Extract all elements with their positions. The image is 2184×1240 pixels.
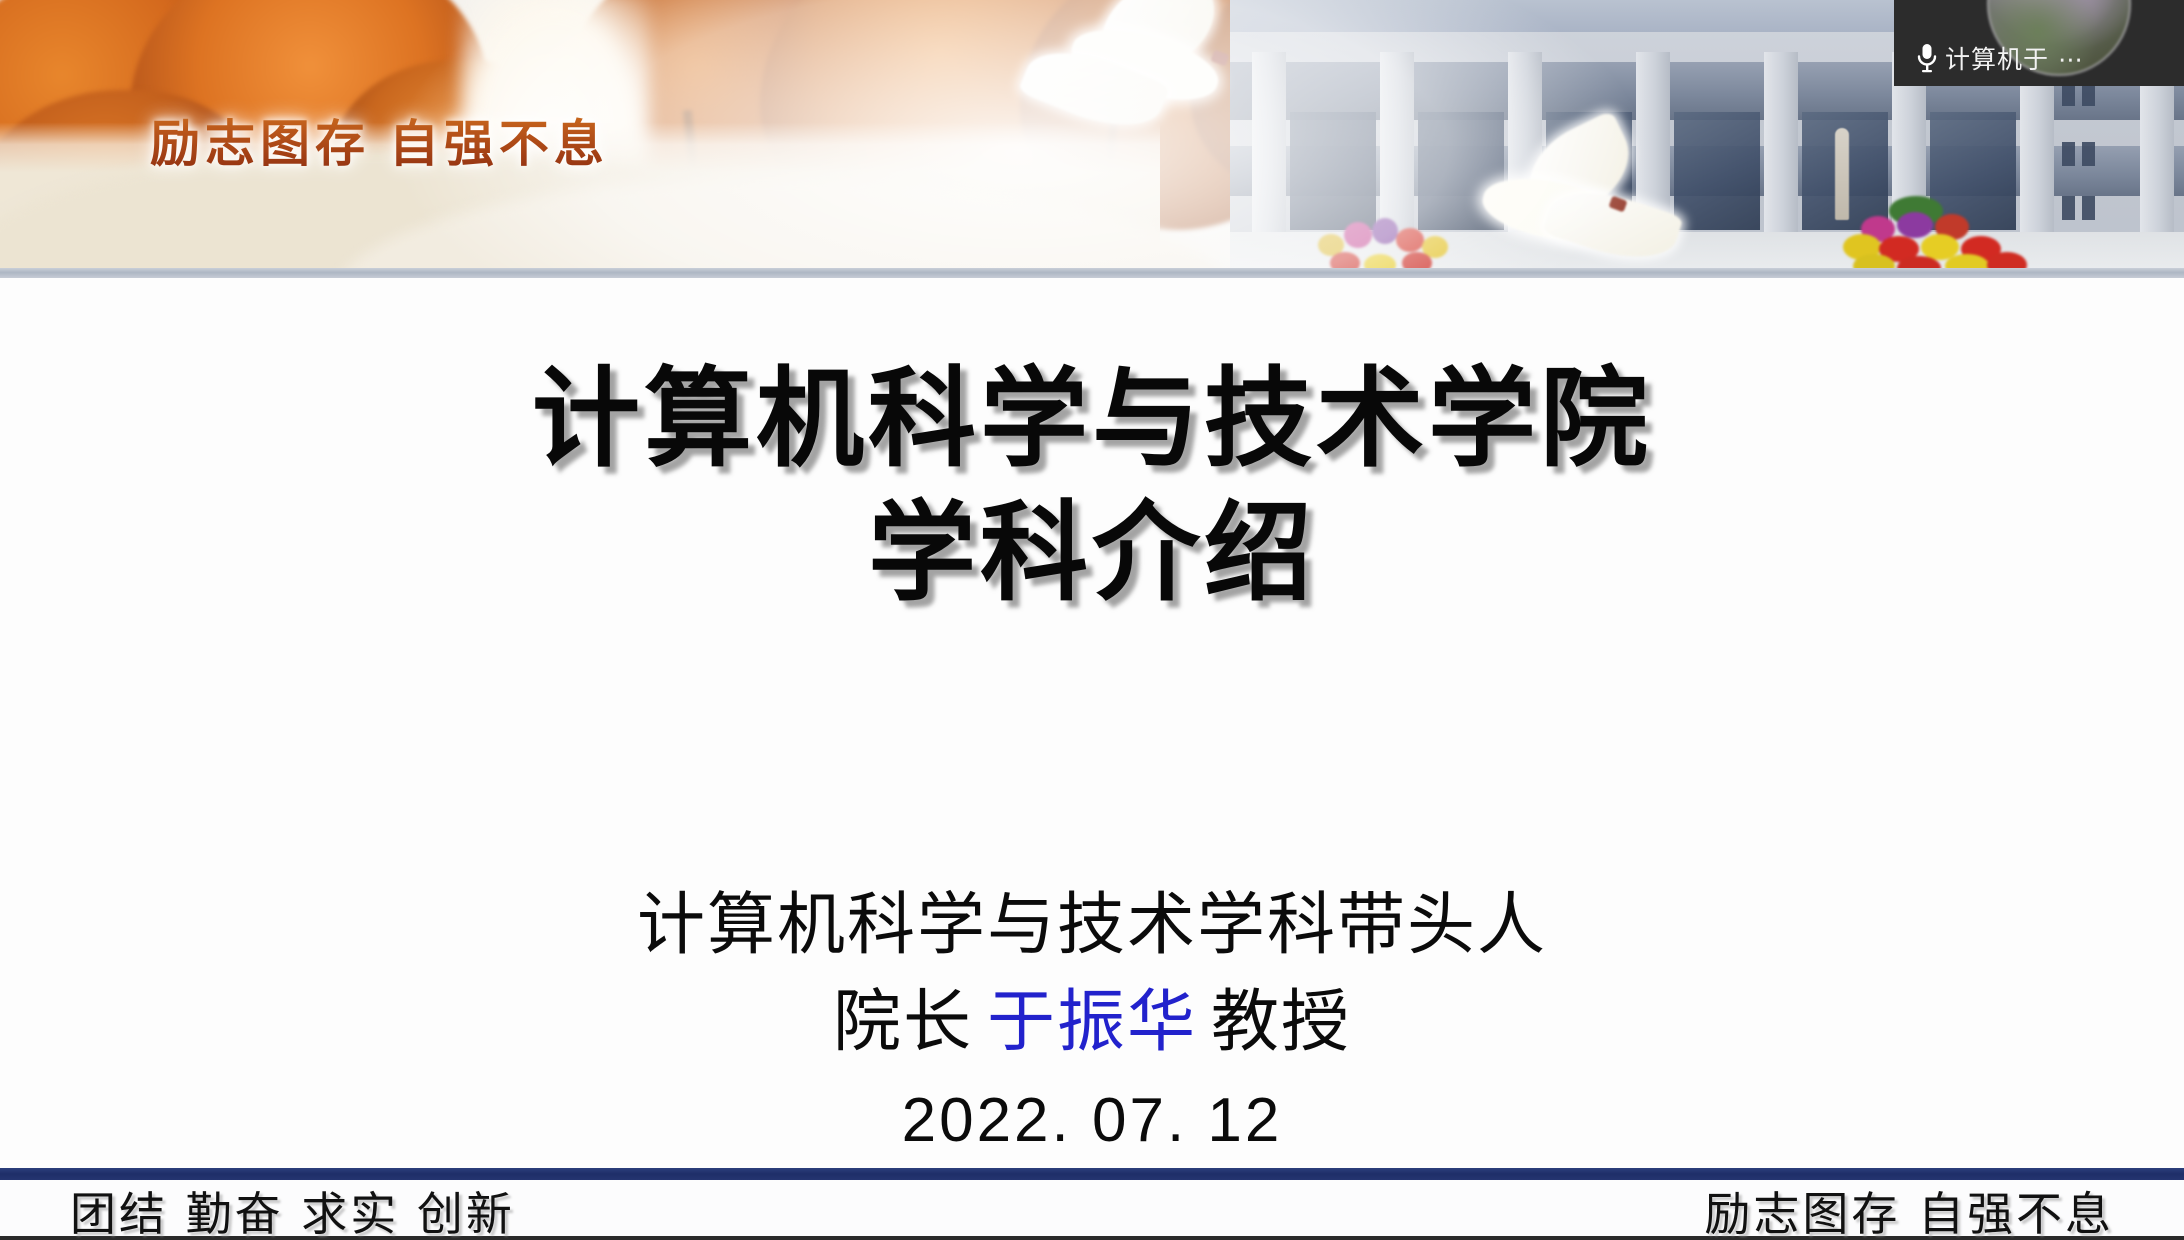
title-line-1: 计算机科学与技术学院 [0,353,2184,487]
author-role-line: 计算机科学与技术学科带头人 [0,878,2184,975]
slide-footer: 团结 勤奋 求实 创新 励志图存 自强不息 [0,1180,2184,1240]
participant-nameplate: 计算机于 ⋯ [1894,40,2084,76]
footer-motto-left: 团结 勤奋 求实 创新 [70,1178,515,1240]
page-title: 计算机科学与技术学院 学科介绍 [0,353,2184,621]
slide-banner-image: 励志图存 自强不息 [0,0,2184,278]
presentation-date: 2022. 07. 12 [0,1085,2184,1156]
participant-name: 计算机于 ⋯ [1945,40,2084,76]
slide-content-area: 计算机科学与技术学院 学科介绍 计算机科学与技术学科带头人 院长于振华教授 20… [0,278,2184,1168]
author-block: 计算机科学与技术学科带头人 院长于振华教授 2022. 07. 12 [0,878,2184,1156]
author-rank: 教授 [1211,983,1351,1062]
microphone-icon [1916,43,1938,73]
video-participant-tile[interactable]: 计算机于 ⋯ [1894,0,2184,86]
banner-divider-rule [0,268,2184,278]
author-name: 于振华 [973,983,1211,1062]
title-line-2: 学科介绍 [0,487,2184,621]
banner-slogan: 励志图存 自强不息 [150,104,609,176]
footer-motto-right: 励志图存 自强不息 [1704,1178,2114,1240]
presentation-slide: 励志图存 自强不息 计算机于 ⋯ 计算机科学与技术学院 学科介绍 计算机科学与技… [0,0,2184,1240]
author-position: 院长 [833,983,973,1062]
author-name-line: 院长于振华教授 [0,975,2184,1072]
